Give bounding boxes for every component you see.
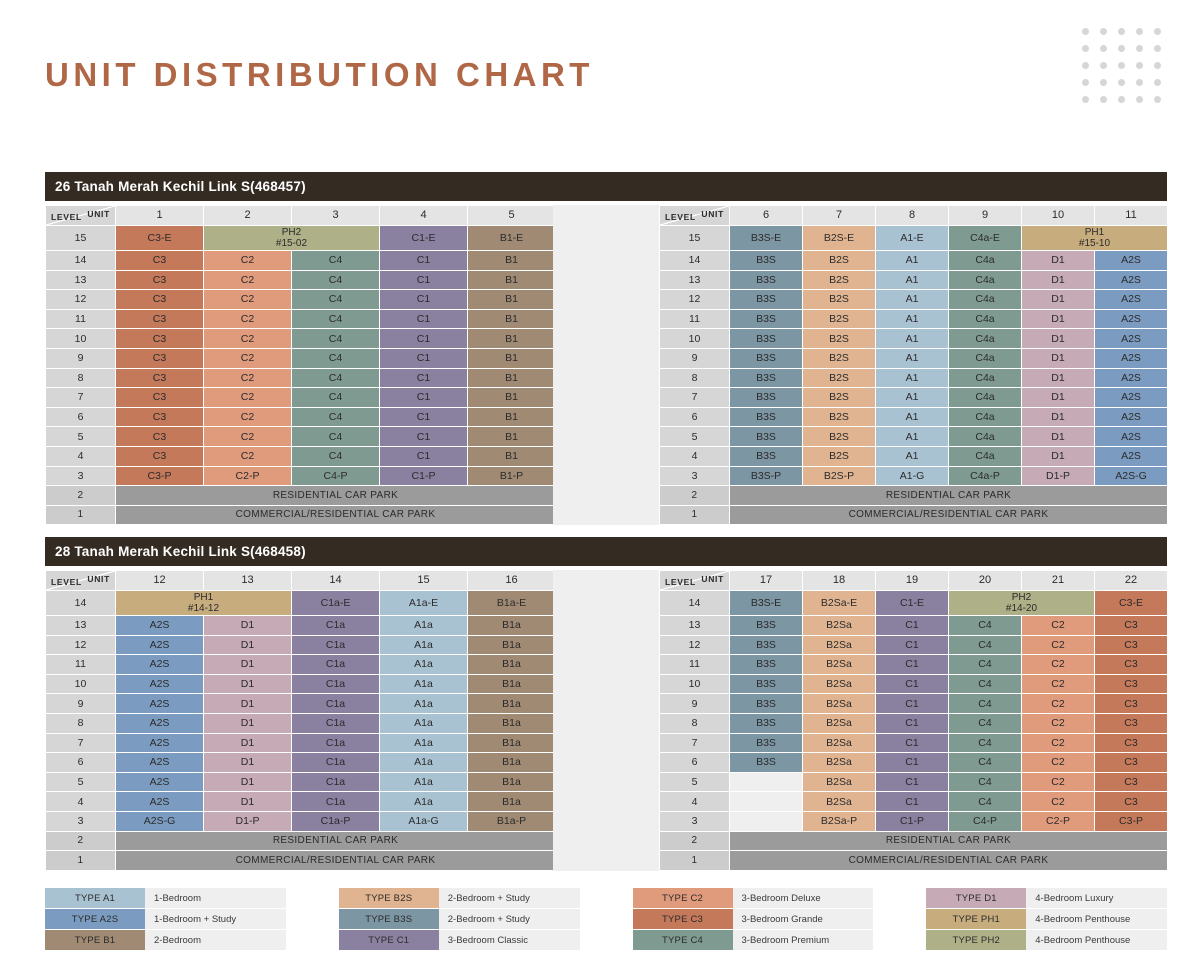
unit-cell[interactable]: C3 [1095, 674, 1168, 694]
unit-cell[interactable]: D1 [1022, 348, 1095, 368]
unit-cell[interactable]: C1 [380, 368, 468, 388]
unit-cell[interactable]: C3 [1095, 792, 1168, 812]
unit-cell[interactable]: B2S-E [803, 225, 876, 250]
dot-icon [1154, 96, 1161, 103]
unit-cell[interactable]: A2S [1095, 407, 1168, 427]
level-label: 3 [660, 466, 730, 486]
unit-cell[interactable]: C3 [116, 348, 204, 368]
unit-cell[interactable]: C4 [949, 713, 1022, 733]
unit-cell[interactable]: C2 [1022, 694, 1095, 714]
unit-cell[interactable]: A1 [876, 446, 949, 466]
unit-cell[interactable]: C1-P [380, 466, 468, 486]
unit-cell[interactable]: B2S [803, 407, 876, 427]
unit-cell[interactable]: A1 [876, 270, 949, 290]
table-row: 12B3SB2SaC1C4C2C3 [660, 635, 1168, 655]
unit-cell[interactable]: C3 [1095, 694, 1168, 714]
unit-cell[interactable]: A2S [1095, 446, 1168, 466]
unit-cell[interactable]: C1 [876, 733, 949, 753]
unit-cell[interactable]: A2S [116, 674, 204, 694]
unit-cell[interactable]: C1 [380, 388, 468, 408]
unit-cell[interactable]: B3S [730, 753, 803, 773]
unit-cell[interactable]: B3S [730, 329, 803, 349]
unit-cell[interactable]: A2S [116, 753, 204, 773]
unit-cell[interactable]: A2S [116, 792, 204, 812]
unit-cell[interactable]: B2S [803, 368, 876, 388]
unit-cell[interactable]: C2 [204, 407, 292, 427]
unit-cell[interactable]: C3 [1095, 635, 1168, 655]
unit-cell[interactable]: B1 [468, 309, 556, 329]
unit-cell[interactable]: C4a [949, 290, 1022, 310]
unit-cell[interactable]: C2 [204, 446, 292, 466]
legend-description: 2-Bedroom [145, 930, 286, 950]
unit-cell[interactable]: A1a-G [380, 811, 468, 831]
unit-cell[interactable]: A2S [1095, 329, 1168, 349]
unit-cell[interactable]: D1 [204, 713, 292, 733]
table-row: 5B2SaC1C4C2C3 [660, 772, 1168, 792]
unit-cell[interactable]: A1a [380, 753, 468, 773]
unit-cell[interactable]: C2 [1022, 792, 1095, 812]
table-row: 6C3C2C4C1B1 [46, 407, 556, 427]
unit-cell[interactable]: C1 [380, 250, 468, 270]
unit-cell[interactable]: A1 [876, 290, 949, 310]
unit-cell[interactable]: D1 [1022, 407, 1095, 427]
unit-cell[interactable]: C4 [949, 772, 1022, 792]
unit-cell[interactable]: C1a [292, 713, 380, 733]
unit-cell[interactable]: A2S [1095, 348, 1168, 368]
unit-cell[interactable]: C3 [116, 388, 204, 408]
unit-cell[interactable]: A1 [876, 250, 949, 270]
unit-cell[interactable]: C1-P [876, 811, 949, 831]
unit-cell[interactable]: D1 [204, 674, 292, 694]
unit-cell[interactable]: C1 [876, 635, 949, 655]
unit-cell[interactable]: C1a [292, 615, 380, 635]
unit-cell[interactable]: C4a [949, 368, 1022, 388]
unit-cell[interactable]: B3S [730, 270, 803, 290]
unit-cell[interactable]: B1 [468, 348, 556, 368]
unit-cell[interactable]: D1 [204, 792, 292, 812]
unit-cell[interactable]: C4a [949, 427, 1022, 447]
unit-cell[interactable]: A1 [876, 309, 949, 329]
car-park-cell: RESIDENTIAL CAR PARK [730, 831, 1168, 851]
level-label: 1 [660, 505, 730, 525]
unit-header-label: UNIT [701, 574, 724, 584]
unit-cell[interactable]: C4 [949, 635, 1022, 655]
unit-cell[interactable]: C4 [292, 388, 380, 408]
unit-cell[interactable]: D1 [1022, 290, 1095, 310]
unit-cell[interactable]: C1a [292, 674, 380, 694]
unit-cell[interactable]: C4a-P [949, 466, 1022, 486]
unit-cell[interactable]: B1a [468, 772, 556, 792]
unit-cell[interactable]: C1 [380, 290, 468, 310]
unit-cell[interactable]: B1 [468, 368, 556, 388]
unit-cell[interactable]: B1a [468, 694, 556, 714]
unit-cell[interactable]: PH2#14-20 [949, 590, 1095, 615]
unit-cell[interactable]: C3 [1095, 733, 1168, 753]
unit-cell[interactable]: B3S-E [730, 590, 803, 615]
unit-cell[interactable]: C1a [292, 772, 380, 792]
empty-cell [730, 772, 803, 792]
unit-cell[interactable]: C4a-E [949, 225, 1022, 250]
unit-cell[interactable]: A2S [1095, 368, 1168, 388]
unit-cell[interactable]: B1 [468, 329, 556, 349]
level-label: 4 [46, 446, 116, 466]
unit-cell[interactable]: B3S [730, 674, 803, 694]
unit-cell[interactable]: C1 [876, 753, 949, 773]
unit-cell[interactable]: C4a [949, 407, 1022, 427]
unit-cell[interactable]: C3 [1095, 655, 1168, 675]
unit-cell[interactable]: C2 [204, 427, 292, 447]
unit-cell[interactable]: A1a [380, 772, 468, 792]
unit-cell[interactable]: C2 [204, 329, 292, 349]
unit-cell[interactable]: B2S [803, 446, 876, 466]
unit-cell[interactable]: C2 [1022, 772, 1095, 792]
unit-cell[interactable]: B2S-P [803, 466, 876, 486]
unit-cell[interactable]: C4 [292, 290, 380, 310]
unit-cell[interactable]: B1 [468, 446, 556, 466]
unit-cell[interactable]: C3 [1095, 753, 1168, 773]
unit-cell[interactable]: D1 [1022, 427, 1095, 447]
unit-cell[interactable]: C1a [292, 733, 380, 753]
unit-cell[interactable]: B3S [730, 694, 803, 714]
unit-cell[interactable]: A1a [380, 694, 468, 714]
unit-cell[interactable]: A1 [876, 348, 949, 368]
unit-cell[interactable]: C1 [876, 694, 949, 714]
unit-cell[interactable]: C1 [876, 772, 949, 792]
unit-cell[interactable]: C2 [1022, 733, 1095, 753]
unit-cell[interactable]: C3 [116, 407, 204, 427]
unit-cell[interactable]: B2S [803, 427, 876, 447]
unit-cell[interactable]: C4a [949, 309, 1022, 329]
unit-cell[interactable]: PH1#15-10 [1022, 225, 1168, 250]
unit-cell[interactable]: B2Sa [803, 655, 876, 675]
dot-icon [1082, 96, 1089, 103]
unit-cell[interactable]: B1-E [468, 225, 556, 250]
unit-cell[interactable]: B3S [730, 446, 803, 466]
unit-cell[interactable]: A1 [876, 368, 949, 388]
unit-cell[interactable]: B2S [803, 388, 876, 408]
unit-cell[interactable]: A1a [380, 792, 468, 812]
unit-cell[interactable]: B3S [730, 290, 803, 310]
unit-cell[interactable]: C3-E [1095, 590, 1168, 615]
unit-cell[interactable]: C3 [116, 446, 204, 466]
unit-cell[interactable]: C4 [949, 753, 1022, 773]
unit-type-label: PH1 [1085, 227, 1104, 238]
unit-cell[interactable]: C4a [949, 348, 1022, 368]
unit-cell[interactable]: C1 [380, 446, 468, 466]
unit-cell[interactable]: C4-P [949, 811, 1022, 831]
level-label: 3 [46, 811, 116, 831]
unit-cell[interactable]: C1a-E [292, 590, 380, 615]
unit-cell[interactable]: B2Sa [803, 674, 876, 694]
unit-column-header: 20 [949, 571, 1022, 591]
unit-cell[interactable]: C4 [292, 446, 380, 466]
unit-cell[interactable]: A2S-G [1095, 466, 1168, 486]
unit-column-header: 10 [1022, 206, 1095, 226]
unit-cell[interactable]: C3 [116, 309, 204, 329]
legend-description: 4-Bedroom Luxury [1026, 888, 1167, 908]
unit-cell[interactable]: B2S [803, 309, 876, 329]
unit-cell[interactable]: C1 [380, 348, 468, 368]
unit-cell[interactable]: C4a [949, 250, 1022, 270]
unit-cell[interactable]: B2Sa [803, 772, 876, 792]
unit-cell[interactable]: B1a [468, 674, 556, 694]
unit-cell[interactable]: B3S [730, 733, 803, 753]
unit-cell[interactable]: C2 [1022, 713, 1095, 733]
unit-cell[interactable]: A2S [116, 772, 204, 792]
unit-cell[interactable]: C2 [204, 348, 292, 368]
unit-cell[interactable]: D1 [1022, 368, 1095, 388]
unit-cell[interactable]: D1 [204, 753, 292, 773]
unit-cell[interactable]: C4a [949, 388, 1022, 408]
unit-cell[interactable]: A1-G [876, 466, 949, 486]
unit-cell[interactable]: D1 [204, 733, 292, 753]
unit-cell[interactable]: A2S [1095, 270, 1168, 290]
unit-cell[interactable]: A1a [380, 674, 468, 694]
unit-cell[interactable]: A2S [116, 694, 204, 714]
level-label: 11 [46, 309, 116, 329]
unit-cell[interactable]: D1 [1022, 250, 1095, 270]
unit-cell[interactable]: C1a [292, 694, 380, 714]
unit-cell[interactable]: C1-E [876, 590, 949, 615]
legend-item: TYPE C13-Bedroom Classic [339, 930, 580, 950]
unit-cell[interactable]: C2 [204, 368, 292, 388]
unit-cell[interactable]: A1 [876, 407, 949, 427]
unit-cell[interactable]: A2S [116, 713, 204, 733]
unit-cell[interactable]: A2S [1095, 427, 1168, 447]
unit-cell[interactable]: C1a [292, 635, 380, 655]
unit-cell[interactable]: C1a-P [292, 811, 380, 831]
unit-cell[interactable]: C4 [949, 674, 1022, 694]
table-row: 2RESIDENTIAL CAR PARK [46, 486, 556, 506]
unit-cell[interactable]: C2 [1022, 674, 1095, 694]
unit-cell[interactable]: C3-P [116, 466, 204, 486]
unit-cell[interactable]: C3 [116, 329, 204, 349]
unit-cell[interactable]: D1 [1022, 388, 1095, 408]
unit-grid: UNITLEVEL17181920212214B3S-EB2Sa-EC1-EPH… [659, 570, 1168, 871]
unit-cell[interactable]: C1a [292, 655, 380, 675]
unit-cell[interactable]: B3S [730, 635, 803, 655]
unit-cell[interactable]: C3 [116, 250, 204, 270]
unit-cell[interactable]: C3 [1095, 772, 1168, 792]
unit-cell[interactable]: PH2#15-02 [204, 225, 380, 250]
unit-cell[interactable]: D1 [204, 694, 292, 714]
unit-cell[interactable]: B2Sa [803, 615, 876, 635]
unit-cell[interactable]: A2S-G [116, 811, 204, 831]
unit-cell[interactable]: C1a [292, 792, 380, 812]
unit-cell[interactable]: B3S [730, 348, 803, 368]
unit-cell[interactable]: B1a [468, 792, 556, 812]
unit-cell[interactable]: D1 [1022, 329, 1095, 349]
dot-icon [1136, 79, 1143, 86]
unit-cell[interactable]: D1 [204, 635, 292, 655]
unit-cell[interactable]: C1 [876, 655, 949, 675]
unit-cell[interactable]: D1-P [1022, 466, 1095, 486]
unit-cell[interactable]: B3S [730, 713, 803, 733]
unit-cell[interactable]: B2S [803, 348, 876, 368]
unit-cell[interactable]: C1 [380, 309, 468, 329]
unit-cell[interactable]: B1 [468, 427, 556, 447]
unit-cell[interactable]: A2S [1095, 309, 1168, 329]
unit-cell[interactable]: B2Sa-E [803, 590, 876, 615]
unit-cell[interactable]: C3 [116, 368, 204, 388]
unit-cell[interactable]: C1 [876, 792, 949, 812]
unit-cell[interactable]: C3 [116, 270, 204, 290]
unit-cell[interactable]: B1 [468, 270, 556, 290]
unit-cell[interactable]: A1a [380, 713, 468, 733]
unit-cell[interactable]: B2S [803, 270, 876, 290]
unit-cell[interactable]: B1a [468, 753, 556, 773]
unit-cell[interactable]: C1 [380, 329, 468, 349]
unit-cell[interactable]: A2S [116, 733, 204, 753]
unit-cell[interactable]: C4 [292, 250, 380, 270]
unit-cell[interactable]: C4 [292, 427, 380, 447]
unit-cell[interactable]: C2 [204, 270, 292, 290]
unit-cell[interactable]: A1-E [876, 225, 949, 250]
unit-cell[interactable]: B1a-E [468, 590, 556, 615]
unit-cell[interactable]: C3-P [1095, 811, 1168, 831]
unit-cell[interactable]: B1a [468, 635, 556, 655]
unit-cell[interactable]: C2 [204, 388, 292, 408]
unit-cell[interactable]: D1-P [204, 811, 292, 831]
unit-cell[interactable]: B3S [730, 250, 803, 270]
unit-cell[interactable]: C2-P [1022, 811, 1095, 831]
unit-cell[interactable]: C3 [1095, 713, 1168, 733]
unit-cell[interactable]: A1a [380, 615, 468, 635]
unit-cell[interactable]: A1 [876, 329, 949, 349]
unit-cell[interactable]: C4 [949, 694, 1022, 714]
unit-cell[interactable]: C4 [949, 655, 1022, 675]
unit-cell[interactable]: C4 [292, 348, 380, 368]
unit-cell[interactable]: B1 [468, 290, 556, 310]
unit-cell[interactable]: C2 [1022, 753, 1095, 773]
unit-cell[interactable]: D1 [1022, 270, 1095, 290]
unit-cell[interactable]: B2Sa [803, 753, 876, 773]
unit-cell[interactable]: A2S [1095, 388, 1168, 408]
unit-cell[interactable]: D1 [1022, 309, 1095, 329]
unit-cell[interactable]: C1-E [380, 225, 468, 250]
unit-cell[interactable]: B1a [468, 713, 556, 733]
unit-cell[interactable]: B3S [730, 368, 803, 388]
unit-cell[interactable]: B1a [468, 655, 556, 675]
unit-cell[interactable]: B3S-E [730, 225, 803, 250]
unit-cell[interactable]: B2S [803, 290, 876, 310]
unit-cell[interactable]: A1a [380, 733, 468, 753]
unit-cell[interactable]: B3S [730, 388, 803, 408]
unit-cell[interactable]: C1 [876, 674, 949, 694]
unit-cell[interactable]: A1a-E [380, 590, 468, 615]
unit-cell[interactable]: C3 [1095, 615, 1168, 635]
dot-icon [1154, 28, 1161, 35]
unit-cell[interactable]: B3S [730, 407, 803, 427]
unit-cell[interactable]: C1 [876, 615, 949, 635]
unit-cell[interactable]: A1a [380, 655, 468, 675]
unit-cell[interactable]: B1a [468, 615, 556, 635]
unit-cell[interactable]: B2Sa [803, 792, 876, 812]
level-label: 5 [46, 427, 116, 447]
unit-cell[interactable]: C1 [380, 427, 468, 447]
unit-cell[interactable]: C2-P [204, 466, 292, 486]
unit-column-header: 7 [803, 206, 876, 226]
unit-cell[interactable]: B3S [730, 427, 803, 447]
unit-cell[interactable]: C2 [1022, 635, 1095, 655]
unit-cell[interactable]: B1a-P [468, 811, 556, 831]
unit-cell[interactable]: B3S [730, 309, 803, 329]
unit-cell[interactable]: B1-P [468, 466, 556, 486]
unit-cell[interactable]: C4a [949, 329, 1022, 349]
dot-icon [1082, 28, 1089, 35]
level-label: 8 [46, 713, 116, 733]
unit-cell[interactable]: C3 [116, 427, 204, 447]
unit-type-label: PH2 [282, 227, 301, 238]
unit-cell[interactable]: C4 [949, 733, 1022, 753]
unit-cell[interactable]: C4a [949, 270, 1022, 290]
unit-cell[interactable]: C4a [949, 446, 1022, 466]
table-row: 8C3C2C4C1B1 [46, 368, 556, 388]
unit-cell[interactable]: B1 [468, 388, 556, 408]
unit-cell[interactable]: A2S [116, 635, 204, 655]
unit-cell[interactable]: D1 [204, 615, 292, 635]
unit-cell[interactable]: B3S-P [730, 466, 803, 486]
unit-cell[interactable]: C4 [292, 309, 380, 329]
unit-cell[interactable]: C4-P [292, 466, 380, 486]
unit-cell[interactable]: A2S [1095, 290, 1168, 310]
unit-cell[interactable]: B1 [468, 407, 556, 427]
unit-cell[interactable]: D1 [1022, 446, 1095, 466]
unit-cell[interactable]: D1 [204, 655, 292, 675]
unit-type-label: PH2 [1012, 592, 1031, 603]
unit-cell[interactable]: B1 [468, 250, 556, 270]
unit-cell[interactable]: A2S [116, 615, 204, 635]
unit-cell[interactable]: A1 [876, 427, 949, 447]
unit-cell[interactable]: C3-E [116, 225, 204, 250]
unit-cell[interactable]: B2Sa [803, 733, 876, 753]
unit-cell[interactable]: C4 [949, 615, 1022, 635]
unit-cell[interactable]: C1 [876, 713, 949, 733]
unit-cell[interactable]: C1 [380, 270, 468, 290]
unit-cell[interactable]: B3S [730, 655, 803, 675]
unit-cell[interactable]: A1a [380, 635, 468, 655]
unit-cell[interactable]: B1a [468, 733, 556, 753]
unit-cell[interactable]: C2 [1022, 655, 1095, 675]
level-label: 9 [660, 694, 730, 714]
unit-cell[interactable]: PH1#14-12 [116, 590, 292, 615]
unit-cell[interactable]: B2S [803, 250, 876, 270]
unit-cell[interactable]: C2 [204, 250, 292, 270]
unit-cell[interactable]: C3 [116, 290, 204, 310]
unit-cell[interactable]: A1 [876, 388, 949, 408]
unit-cell[interactable]: B3S [730, 615, 803, 635]
unit-cell[interactable]: B2S [803, 329, 876, 349]
unit-cell[interactable]: A2S [1095, 250, 1168, 270]
unit-cell[interactable]: B2Sa [803, 713, 876, 733]
unit-cell[interactable]: C2 [1022, 615, 1095, 635]
unit-cell[interactable]: D1 [204, 772, 292, 792]
unit-cell[interactable]: B2Sa [803, 694, 876, 714]
unit-cell[interactable]: C1a [292, 753, 380, 773]
unit-cell[interactable]: C2 [204, 290, 292, 310]
unit-cell[interactable]: C4 [949, 792, 1022, 812]
unit-cell[interactable]: C4 [292, 270, 380, 290]
unit-cell[interactable]: B2Sa [803, 635, 876, 655]
unit-cell[interactable]: C4 [292, 368, 380, 388]
unit-cell[interactable]: C2 [204, 309, 292, 329]
level-label: 4 [660, 792, 730, 812]
unit-cell[interactable]: C1 [380, 407, 468, 427]
unit-cell[interactable]: A2S [116, 655, 204, 675]
unit-cell[interactable]: C4 [292, 407, 380, 427]
unit-cell[interactable]: B2Sa-P [803, 811, 876, 831]
unit-cell[interactable]: C4 [292, 329, 380, 349]
